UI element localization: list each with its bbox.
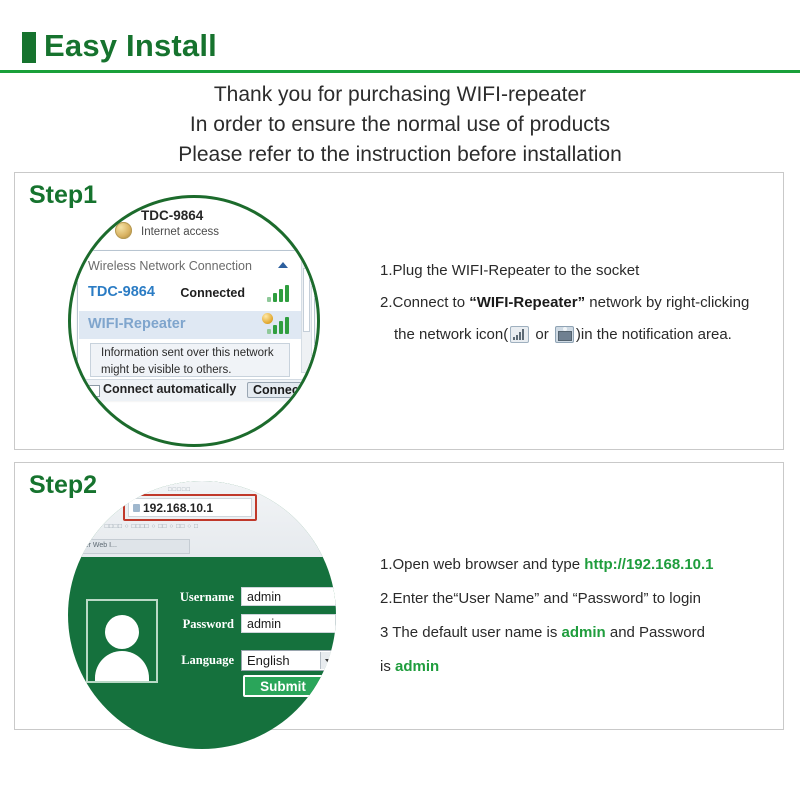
chevron-up-icon[interactable] xyxy=(278,262,288,268)
router-login-form: Username admin Password admin Language E… xyxy=(168,587,336,677)
network-list-item-repeater[interactable]: WIFI-Repeater xyxy=(79,311,301,339)
default-username: admin xyxy=(562,624,606,641)
signal-bars-icon xyxy=(267,317,293,334)
flyout-scrollbar[interactable] xyxy=(301,253,312,373)
step1-instruction-3-post: )in the notification area. xyxy=(576,326,732,343)
intro-line-1: Thank you for purchasing WIFI-repeater xyxy=(0,80,800,110)
browser-tab[interactable]: eater Web I... xyxy=(70,539,190,554)
network-security-note: Information sent over this network might… xyxy=(90,343,290,377)
header-accent-bar xyxy=(22,32,36,63)
submit-button[interactable]: Submit xyxy=(243,675,323,697)
note-line-1: Information sent over this network xyxy=(91,344,289,361)
intro-line-2: In order to ensure the normal use of pro… xyxy=(0,110,800,140)
language-label: Language xyxy=(168,653,234,668)
step1-instruction-2: 2.Connect to “WIFI-Repeater” network by … xyxy=(380,293,770,313)
password-value: admin xyxy=(247,617,281,631)
step2-instruction-3: 3 The default user name is admin and Pas… xyxy=(380,623,780,643)
network-state: Connected xyxy=(180,286,245,300)
wireless-connection-title: Wireless Network Connection xyxy=(88,259,252,273)
connect-automatically-label: Connect automatically xyxy=(103,382,236,396)
step1-instruction-2-network: “WIFI-Repeater” xyxy=(469,294,585,311)
avatar-body-icon xyxy=(95,651,149,681)
browser-menu-text: □□□□□ xyxy=(168,487,191,493)
step2-instruction-4-pre: is xyxy=(380,658,395,675)
step2-instruction-1-pre: 1.Open web browser and type xyxy=(380,556,584,573)
step2-instruction-4: is admin xyxy=(380,657,780,677)
username-row: Username admin xyxy=(168,587,336,609)
step1-instruction-1: 1.Plug the WIFI-Repeater to the socket xyxy=(380,261,770,281)
network-name: TDC-9864 xyxy=(88,284,155,300)
page-title: Easy Install xyxy=(44,26,217,66)
chevron-down-icon[interactable] xyxy=(320,652,334,669)
browser-chrome: □□□□□ 192.168.10.1 ○ □□□□ ○ □□□□ ○ □□ ○ … xyxy=(68,481,336,557)
step1-screenshot-circle: TDC-9864 Internet access Wireless Networ… xyxy=(68,195,320,447)
step2-instruction-1: 1.Open web browser and type http://192.1… xyxy=(380,555,780,575)
intro-line-3: Please refer to the instruction before i… xyxy=(0,140,800,170)
wireless-network-flyout: Wireless Network Connection TDC-9864 Con… xyxy=(77,250,315,400)
network-monitor-icon xyxy=(555,326,574,343)
network-list-item-connected[interactable]: TDC-9864 Connected xyxy=(79,279,301,307)
signal-bars-icon xyxy=(267,285,293,302)
wifi-tooltip-status: Internet access xyxy=(141,226,219,238)
step1-instruction-3-pre: the network icon( xyxy=(394,326,508,343)
step2-instruction-3-pre: 3 The default user name is xyxy=(380,624,562,641)
step2-panel: Step2 □□□□□ 192.168.10.1 ○ □□□□ ○ □□□□ ○… xyxy=(14,462,784,730)
step1-instruction-2-pre: 2.Connect to xyxy=(380,294,469,311)
step1-instruction-3-or: or xyxy=(531,326,553,343)
connect-automatically-checkbox[interactable] xyxy=(88,385,100,397)
globe-icon xyxy=(115,222,132,239)
header-divider xyxy=(0,70,800,73)
browser-tab-label: eater Web I... xyxy=(75,542,117,549)
connect-button[interactable]: Connect xyxy=(247,382,309,398)
network-name: WIFI-Repeater xyxy=(88,316,186,332)
intro-block: Thank you for purchasing WIFI-repeater I… xyxy=(0,80,800,170)
username-input[interactable]: admin xyxy=(241,587,336,606)
password-input[interactable]: admin xyxy=(241,614,336,633)
username-value: admin xyxy=(247,590,281,604)
step1-instruction-2-post: network by right-clicking xyxy=(585,294,749,311)
step1-instruction-3: the network icon( or )in the notificatio… xyxy=(380,325,770,345)
step1-panel: Step1 TDC-9864 Internet access Wireless … xyxy=(14,172,784,450)
flyout-footer: Connect automatically Connect xyxy=(79,379,315,401)
easy-install-page: Easy Install Thank you for purchasing WI… xyxy=(0,0,800,800)
step2-instruction-3-mid: and Password xyxy=(606,624,705,641)
language-select[interactable]: English xyxy=(241,650,336,671)
step2-instructions: 1.Open web browser and type http://192.1… xyxy=(380,555,780,691)
step1-instructions: 1.Plug the WIFI-Repeater to the socket 2… xyxy=(380,261,770,357)
avatar xyxy=(86,599,158,683)
address-highlight-box xyxy=(123,494,257,521)
step2-screenshot-circle: □□□□□ 192.168.10.1 ○ □□□□ ○ □□□□ ○ □□ ○ … xyxy=(68,481,336,749)
username-label: Username xyxy=(168,590,234,605)
browser-toolbar-text: ○ □□□□ ○ □□□□ ○ □□ ○ □□ ○ □ xyxy=(98,523,308,533)
step2-instruction-2: 2.Enter the“User Name” and “Password” to… xyxy=(380,589,780,609)
router-url: http://192.168.10.1 xyxy=(584,556,713,573)
language-value: English xyxy=(247,653,290,668)
note-line-2: might be visible to others. xyxy=(91,361,289,378)
password-label: Password xyxy=(168,617,234,632)
signal-bars-icon xyxy=(510,326,529,343)
wifi-tooltip-ssid: TDC-9864 xyxy=(141,208,203,223)
language-row: Language English xyxy=(168,650,336,672)
wifi-tooltip: TDC-9864 Internet access xyxy=(107,208,307,252)
avatar-head-icon xyxy=(105,615,139,649)
password-row: Password admin xyxy=(168,614,336,636)
default-password: admin xyxy=(395,658,439,675)
star-icon xyxy=(106,501,118,513)
page-header: Easy Install xyxy=(0,28,800,70)
